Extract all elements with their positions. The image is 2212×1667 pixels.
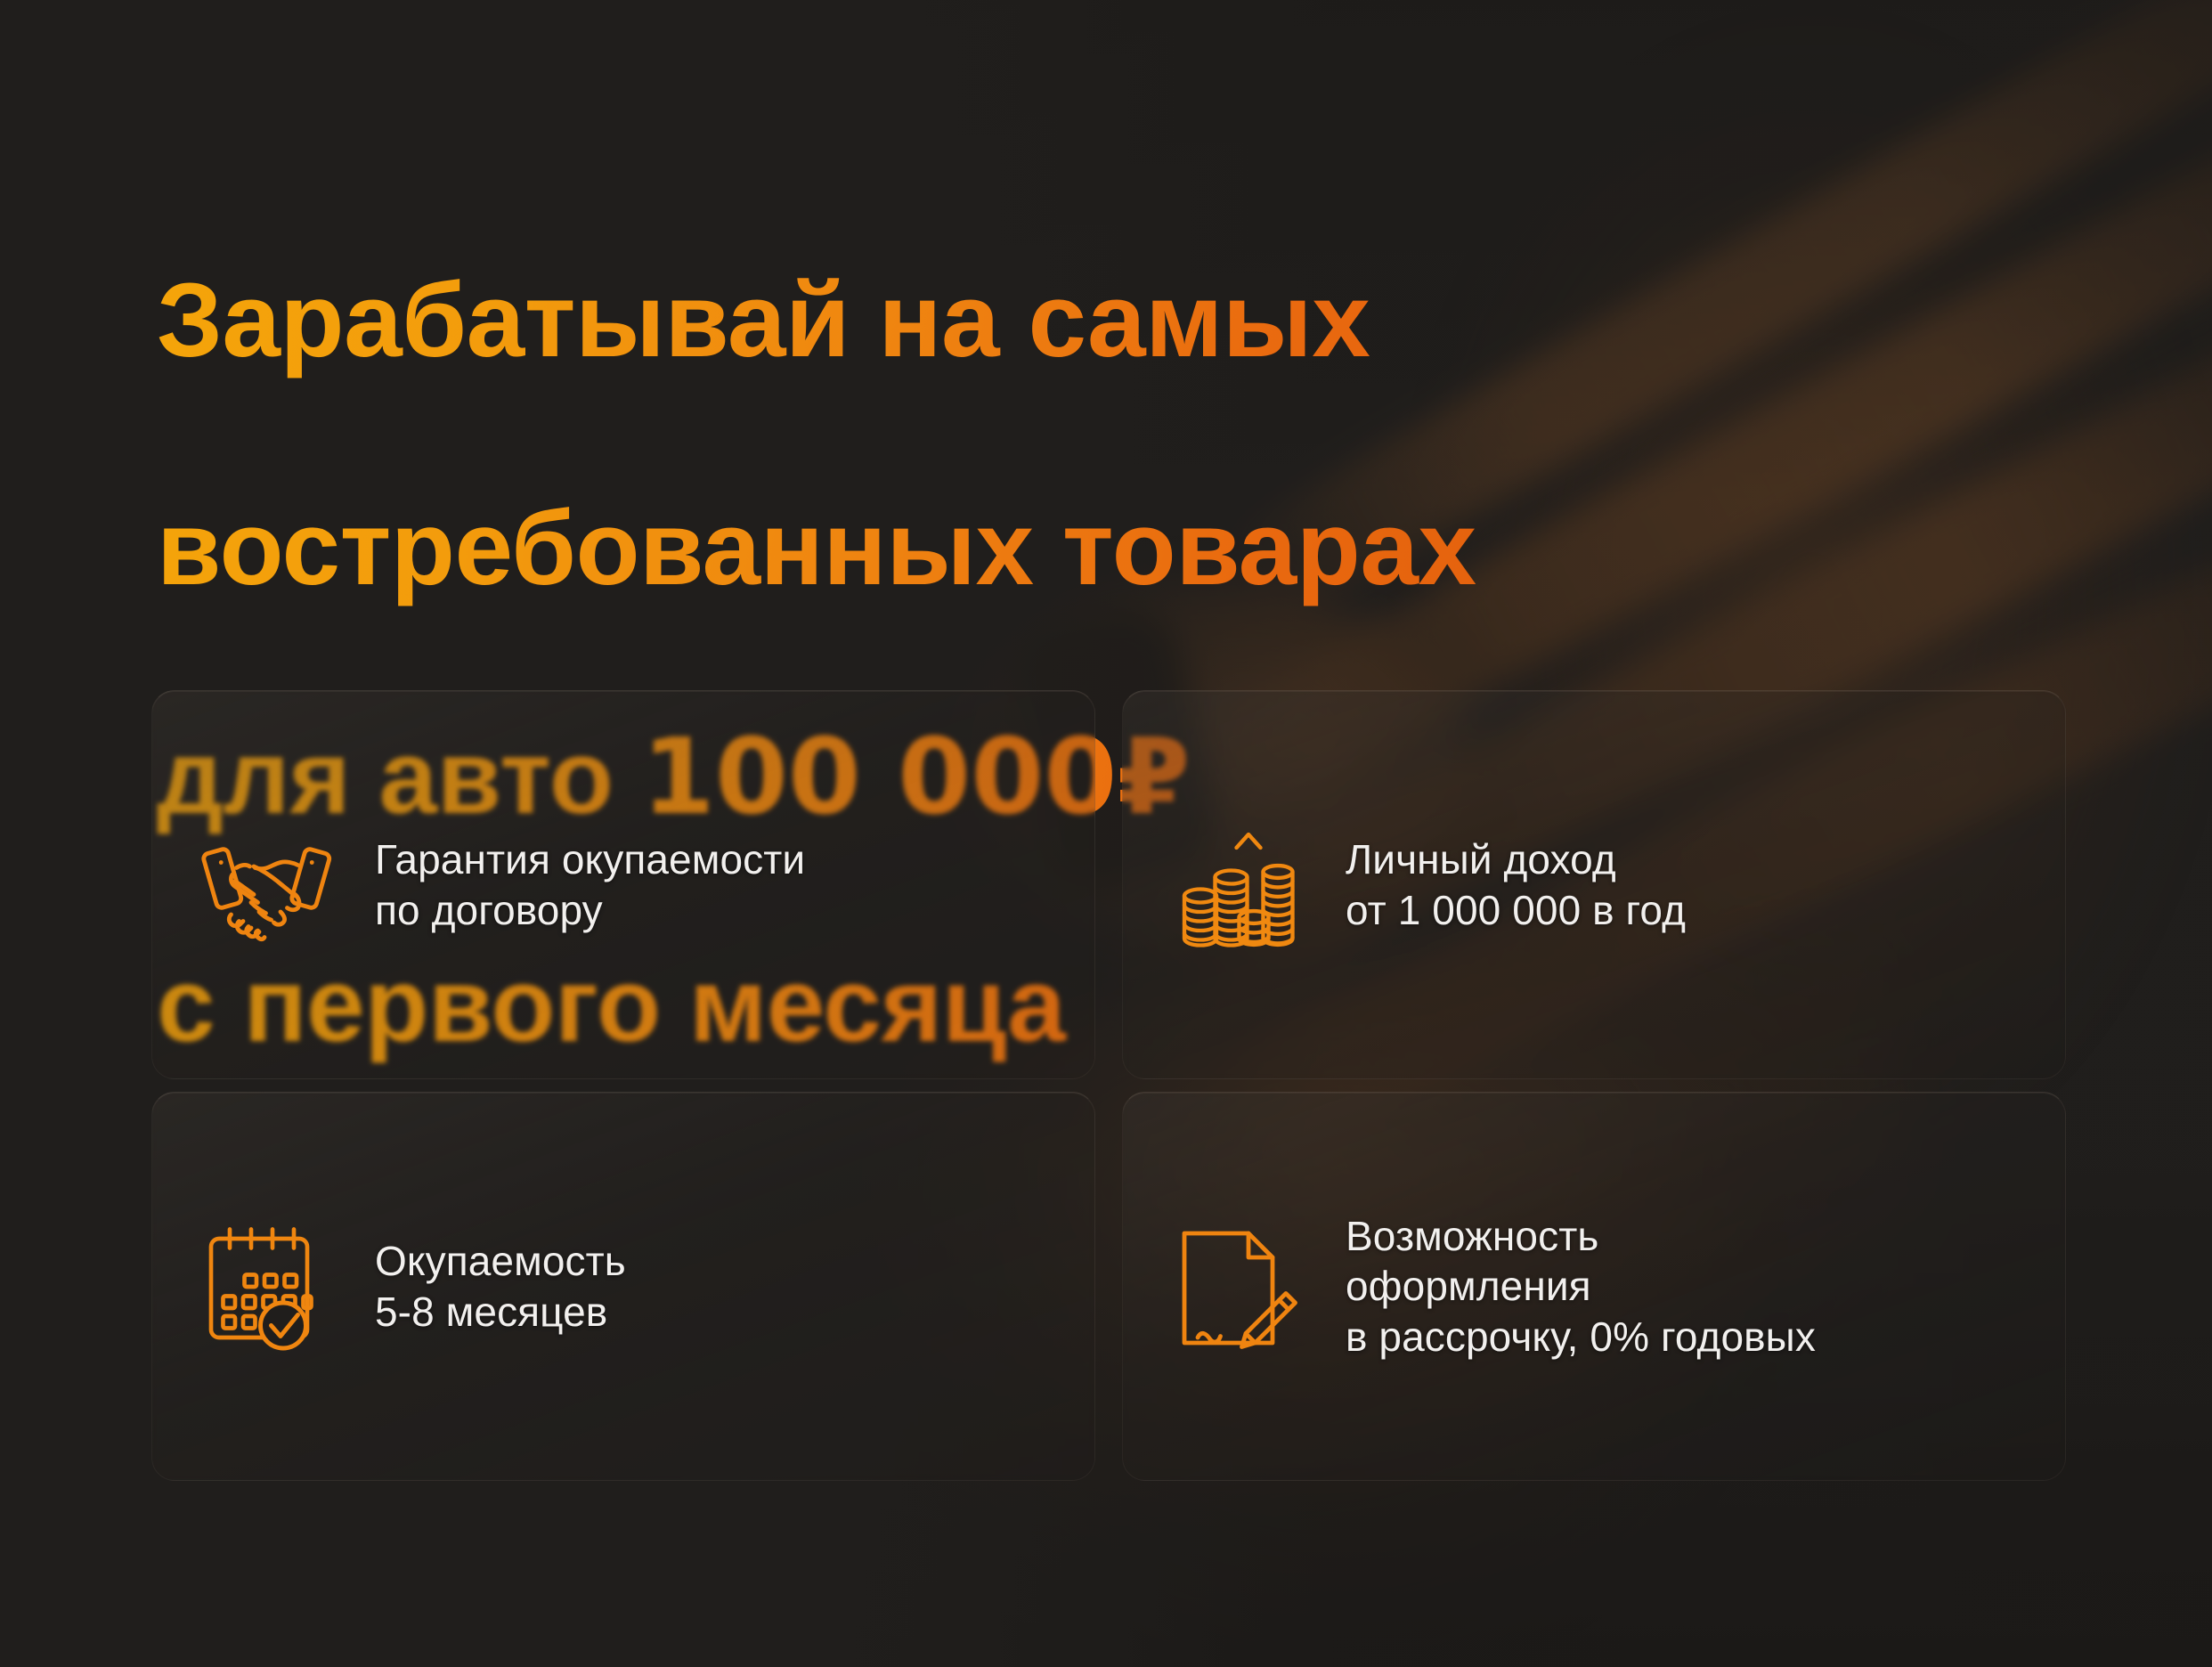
headline-line-2: востребованных товарах — [157, 492, 1599, 606]
feature-card-installment[interactable]: Возможность оформления в рассрочку, 0% г… — [1122, 1092, 2066, 1481]
feature-card-income[interactable]: Личный доход от 1 000 000 в год — [1122, 690, 2066, 1079]
coins-growth-icon — [1171, 818, 1305, 952]
feature-card-label: Возможность оформления в рассрочку, 0% г… — [1346, 1211, 1816, 1361]
feature-card-guarantee[interactable]: Гарантия окупаемости по договору — [151, 690, 1095, 1079]
headline-line-1: Зарабатывай на самых — [157, 264, 1599, 378]
promo-banner: Зарабатывай на самых востребованных това… — [0, 0, 2212, 1667]
feature-card-label: Гарантия окупаемости по договору — [375, 834, 805, 934]
feature-card-label: Окупаемость 5-8 месяцев — [375, 1236, 626, 1336]
document-pen-icon — [1171, 1220, 1305, 1354]
feature-card-grid: Гарантия окупаемости по договору — [151, 690, 2066, 1481]
feature-card-label: Личный доход от 1 000 000 в год — [1346, 834, 1686, 934]
handshake-icon — [200, 818, 334, 952]
calendar-check-icon — [200, 1220, 334, 1354]
feature-card-payback[interactable]: Окупаемость 5-8 месяцев — [151, 1092, 1095, 1481]
